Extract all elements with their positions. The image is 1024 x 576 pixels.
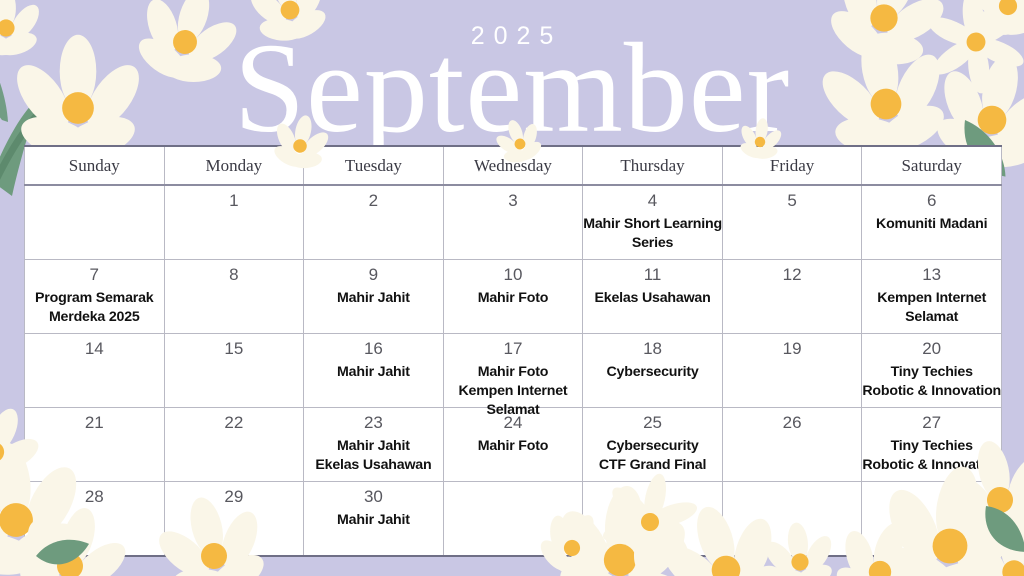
event-label[interactable]: Mahir Jahit: [304, 289, 443, 308]
event-label[interactable]: Mahir Short Learning: [583, 215, 722, 234]
calendar-empty-cell: [583, 482, 723, 557]
event-label[interactable]: Series: [583, 234, 722, 253]
event-label[interactable]: Mahir Foto: [444, 363, 583, 382]
calendar-week-row: 1234Mahir Short LearningSeries56Komuniti…: [25, 185, 1002, 260]
event-label[interactable]: Ekelas Usahawan: [304, 456, 443, 475]
event-label[interactable]: Komuniti Madani: [862, 215, 1001, 234]
year-label: 2025: [0, 22, 1024, 51]
day-number: 11: [583, 260, 722, 288]
event-label[interactable]: Kempen Internet: [444, 382, 583, 401]
day-cell-content: 22: [165, 408, 304, 481]
day-cell-content: 2: [304, 186, 443, 259]
calendar-day-cell[interactable]: 28: [25, 482, 165, 557]
day-events: Program SemarakMerdeka 2025: [25, 289, 164, 327]
event-label[interactable]: Mahir Foto: [444, 437, 583, 456]
day-events: Mahir Foto: [444, 289, 583, 308]
calendar-day-cell[interactable]: 30Mahir Jahit: [304, 482, 444, 557]
day-cell-content: 28: [25, 482, 164, 555]
calendar-empty-cell: [25, 185, 165, 260]
weekday-header-row: Sunday Monday Tuesday Wednesday Thursday…: [25, 146, 1002, 185]
calendar-day-cell[interactable]: 21: [25, 408, 165, 482]
calendar-empty-cell: [722, 482, 862, 557]
calendar-day-cell[interactable]: 20Tiny TechiesRobotic & Innovation: [862, 334, 1002, 408]
day-cell-content: 7Program SemarakMerdeka 2025: [25, 260, 164, 333]
day-cell-content: 12: [723, 260, 862, 333]
day-number: 19: [723, 334, 862, 362]
day-number: 26: [723, 408, 862, 436]
day-cell-content: [723, 482, 862, 555]
day-cell-content: 16Mahir Jahit: [304, 334, 443, 407]
daisy-flower: [808, 0, 964, 87]
day-number: [583, 482, 722, 485]
day-number: 1: [165, 186, 304, 214]
event-label[interactable]: CTF Grand Final: [583, 456, 722, 475]
event-label[interactable]: Cybersecurity: [583, 363, 722, 382]
calendar-day-cell[interactable]: 15: [164, 334, 304, 408]
event-label[interactable]: Tiny Techies: [862, 437, 1001, 456]
day-cell-content: [444, 482, 583, 555]
day-cell-content: 5: [723, 186, 862, 259]
day-number: 20: [862, 334, 1001, 362]
day-number: [25, 186, 164, 189]
day-number: 30: [304, 482, 443, 510]
day-number: 5: [723, 186, 862, 214]
day-cell-content: 6Komuniti Madani: [862, 186, 1001, 259]
calendar-day-cell[interactable]: 2: [304, 185, 444, 260]
calendar-empty-cell: [443, 482, 583, 557]
day-cell-content: 18Cybersecurity: [583, 334, 722, 407]
day-cell-content: [583, 482, 722, 555]
event-label[interactable]: Mahir Jahit: [304, 511, 443, 530]
daisy-flower: [0, 0, 44, 60]
calendar-day-cell[interactable]: 3: [443, 185, 583, 260]
calendar-day-cell[interactable]: 9Mahir Jahit: [304, 260, 444, 334]
event-label[interactable]: Ekelas Usahawan: [583, 289, 722, 308]
calendar-week-row: 212223Mahir JahitEkelas Usahawan24Mahir …: [25, 408, 1002, 482]
calendar-day-cell[interactable]: 10Mahir Foto: [443, 260, 583, 334]
day-number: 14: [25, 334, 164, 362]
calendar-day-cell[interactable]: 25CybersecurityCTF Grand Final: [583, 408, 723, 482]
day-number: 22: [165, 408, 304, 436]
day-cell-content: 4Mahir Short LearningSeries: [583, 186, 722, 259]
calendar-day-cell[interactable]: 11Ekelas Usahawan: [583, 260, 723, 334]
calendar-day-cell[interactable]: 24Mahir Foto: [443, 408, 583, 482]
weekday-header-friday: Friday: [722, 146, 862, 185]
day-events: Mahir Jahit: [304, 363, 443, 382]
day-cell-content: 1: [165, 186, 304, 259]
day-cell-content: [862, 482, 1001, 555]
day-number: 17: [444, 334, 583, 362]
event-label[interactable]: Cybersecurity: [583, 437, 722, 456]
calendar-day-cell[interactable]: 7Program SemarakMerdeka 2025: [25, 260, 165, 334]
day-number: [444, 482, 583, 485]
day-cell-content: 9Mahir Jahit: [304, 260, 443, 333]
calendar-day-cell[interactable]: 19: [722, 334, 862, 408]
calendar-day-cell[interactable]: 23Mahir JahitEkelas Usahawan: [304, 408, 444, 482]
day-cell-content: 29: [165, 482, 304, 555]
event-label[interactable]: Selamat: [862, 308, 1001, 327]
day-events: Mahir Short LearningSeries: [583, 215, 722, 253]
event-label[interactable]: Mahir Foto: [444, 289, 583, 308]
day-cell-content: 23Mahir JahitEkelas Usahawan: [304, 408, 443, 481]
calendar-grid: Sunday Monday Tuesday Wednesday Thursday…: [24, 145, 1002, 557]
day-number: 10: [444, 260, 583, 288]
day-number: 28: [25, 482, 164, 510]
day-cell-content: 14: [25, 334, 164, 407]
calendar-day-cell[interactable]: 6Komuniti Madani: [862, 185, 1002, 260]
day-cell-content: 19: [723, 334, 862, 407]
day-number: 16: [304, 334, 443, 362]
event-label[interactable]: Robotic & Innovation: [862, 382, 1001, 401]
weekday-header-tuesday: Tuesday: [304, 146, 444, 185]
daisy-flower: [120, 0, 253, 100]
event-label[interactable]: Kempen Internet: [862, 289, 1001, 308]
day-events: Ekelas Usahawan: [583, 289, 722, 308]
day-number: 2: [304, 186, 443, 214]
day-events: Mahir Foto: [444, 437, 583, 456]
calendar-day-cell[interactable]: 26: [722, 408, 862, 482]
day-cell-content: 21: [25, 408, 164, 481]
event-label[interactable]: Mahir Jahit: [304, 437, 443, 456]
day-cell-content: 17Mahir FotoKempen InternetSelamat: [444, 334, 583, 407]
day-events: Cybersecurity: [583, 363, 722, 382]
weekday-header-monday: Monday: [164, 146, 304, 185]
day-number: [862, 482, 1001, 485]
calendar-day-cell[interactable]: 4Mahir Short LearningSeries: [583, 185, 723, 260]
day-number: 12: [723, 260, 862, 288]
day-cell-content: 13Kempen InternetSelamat: [862, 260, 1001, 333]
calendar-day-cell[interactable]: 14: [25, 334, 165, 408]
day-events: Tiny TechiesRobotic & Innovation: [862, 437, 1001, 475]
day-number: 13: [862, 260, 1001, 288]
day-number: 29: [165, 482, 304, 510]
calendar-day-cell[interactable]: 12: [722, 260, 862, 334]
calendar-empty-cell: [862, 482, 1002, 557]
month-title: September: [0, 24, 1024, 152]
event-label[interactable]: Robotic & Innovation: [862, 456, 1001, 475]
day-number: 6: [862, 186, 1001, 214]
day-number: [723, 482, 862, 485]
calendar-day-cell[interactable]: 16Mahir Jahit: [304, 334, 444, 408]
day-cell-content: 20Tiny TechiesRobotic & Innovation: [862, 334, 1001, 407]
day-number: 4: [583, 186, 722, 214]
day-events: Komuniti Madani: [862, 215, 1001, 234]
weekday-header-thursday: Thursday: [583, 146, 723, 185]
day-cell-content: 25CybersecurityCTF Grand Final: [583, 408, 722, 481]
day-events: Mahir JahitEkelas Usahawan: [304, 437, 443, 475]
day-number: 3: [444, 186, 583, 214]
day-cell-content: 10Mahir Foto: [444, 260, 583, 333]
day-events: Mahir Jahit: [304, 289, 443, 308]
calendar-day-cell[interactable]: 8: [164, 260, 304, 334]
day-cell-content: 8: [165, 260, 304, 333]
day-cell-content: 26: [723, 408, 862, 481]
calendar-day-cell[interactable]: 5: [722, 185, 862, 260]
calendar-day-cell[interactable]: 18Cybersecurity: [583, 334, 723, 408]
calendar-day-cell[interactable]: 13Kempen InternetSelamat: [862, 260, 1002, 334]
day-cell-content: 11Ekelas Usahawan: [583, 260, 722, 333]
event-label[interactable]: Program Semarak: [25, 289, 164, 308]
day-cell-content: 24Mahir Foto: [444, 408, 583, 481]
day-number: 27: [862, 408, 1001, 436]
day-events: Tiny TechiesRobotic & Innovation: [862, 363, 1001, 401]
daisy-flower: [240, 0, 338, 52]
event-label[interactable]: Merdeka 2025: [25, 308, 164, 327]
daisy-flower: [921, 0, 1024, 99]
calendar-body: 1234Mahir Short LearningSeries56Komuniti…: [25, 185, 1002, 556]
calendar-day-cell[interactable]: 29: [164, 482, 304, 557]
day-number: 25: [583, 408, 722, 436]
day-cell-content: 30Mahir Jahit: [304, 482, 443, 555]
day-number: 24: [444, 408, 583, 436]
calendar-day-cell[interactable]: 27Tiny TechiesRobotic & Innovation: [862, 408, 1002, 482]
event-label[interactable]: Mahir Jahit: [304, 363, 443, 382]
day-events: Mahir Jahit: [304, 511, 443, 530]
day-cell-content: 3: [444, 186, 583, 259]
calendar-header: 2025 September: [0, 0, 1024, 145]
day-number: 8: [165, 260, 304, 288]
calendar-day-cell[interactable]: 17Mahir FotoKempen InternetSelamat: [443, 334, 583, 408]
weekday-header-wednesday: Wednesday: [443, 146, 583, 185]
day-cell-content: 15: [165, 334, 304, 407]
day-number: 23: [304, 408, 443, 436]
calendar-week-row: 282930Mahir Jahit: [25, 482, 1002, 557]
day-events: CybersecurityCTF Grand Final: [583, 437, 722, 475]
day-cell-content: [25, 186, 164, 259]
day-number: 9: [304, 260, 443, 288]
day-cell-content: 27Tiny TechiesRobotic & Innovation: [862, 408, 1001, 481]
day-number: 18: [583, 334, 722, 362]
day-number: 7: [25, 260, 164, 288]
calendar-day-cell[interactable]: 22: [164, 408, 304, 482]
weekday-header-saturday: Saturday: [862, 146, 1002, 185]
calendar-day-cell[interactable]: 1: [164, 185, 304, 260]
calendar-page: 2025 September Sunday Monday Tuesday Wed…: [0, 0, 1024, 576]
calendar-week-row: 141516Mahir Jahit17Mahir FotoKempen Inte…: [25, 334, 1002, 408]
weekday-header-sunday: Sunday: [25, 146, 165, 185]
calendar-week-row: 7Program SemarakMerdeka 202589Mahir Jahi…: [25, 260, 1002, 334]
daisy-flower: [967, 0, 1024, 39]
day-number: 21: [25, 408, 164, 436]
day-number: 15: [165, 334, 304, 362]
event-label[interactable]: Tiny Techies: [862, 363, 1001, 382]
day-events: Kempen InternetSelamat: [862, 289, 1001, 327]
